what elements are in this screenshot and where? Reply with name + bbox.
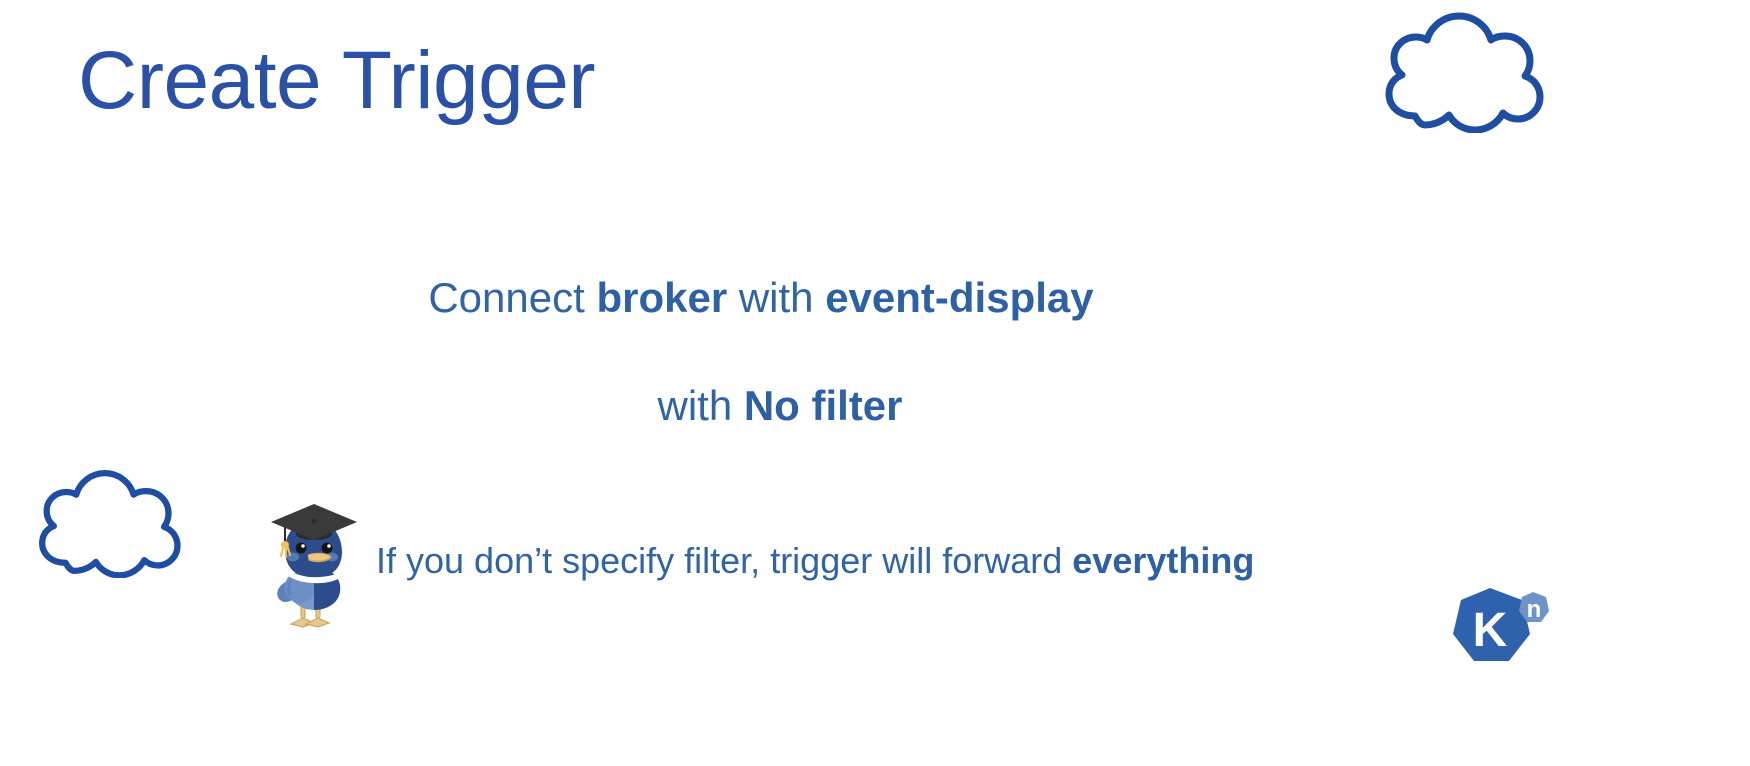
cloud-outline-icon xyxy=(18,466,190,583)
body-line-3-prefix: If you don’t specify filter, trigger wil… xyxy=(376,540,1072,581)
body-line-1-bold-event-display: event-display xyxy=(825,274,1093,321)
knative-bird-graduate-icon xyxy=(268,500,360,637)
body-line-3-bold-everything: everything xyxy=(1072,540,1254,581)
body-line-1-bold-broker: broker xyxy=(596,274,727,321)
body-line-2-bold-no-filter: No filter xyxy=(744,382,903,429)
cloud-outline-icon xyxy=(1363,8,1553,138)
body-line-1-prefix: Connect xyxy=(428,274,596,321)
knative-logo: K n xyxy=(1448,580,1558,690)
body-line-3: If you don’t specify filter, trigger wil… xyxy=(376,540,1254,582)
body-line-2-prefix: with xyxy=(657,382,743,429)
logo-letter-n: n xyxy=(1527,596,1542,623)
slide-canvas: Create Trigger Connect broker with event… xyxy=(0,0,1750,766)
page-title: Create Trigger xyxy=(78,34,595,128)
logo-letter-k: K xyxy=(1473,604,1508,657)
body-line-2: with No filter xyxy=(0,382,1750,430)
body-line-1-middle: with xyxy=(727,274,825,321)
body-line-1: Connect broker with event-display xyxy=(0,274,1750,322)
